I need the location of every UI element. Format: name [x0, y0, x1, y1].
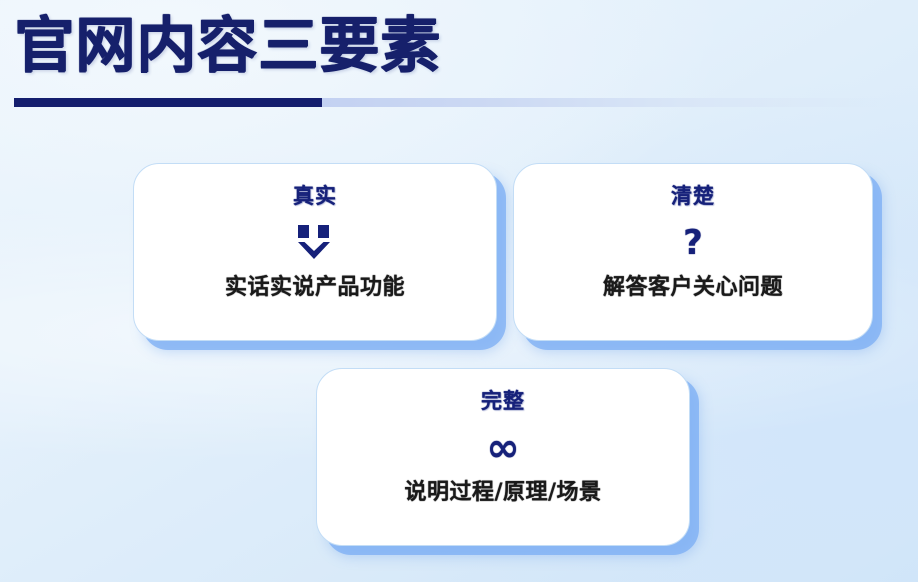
card-title: 清楚 — [671, 186, 715, 207]
card-caption: 说明过程/原理/场景 — [404, 482, 601, 504]
card-caption: 解答客户关心问题 — [603, 277, 783, 299]
content-card-authentic[interactable]: 真实 实话实说产品功能 — [133, 163, 497, 341]
card-icon-slot: ? — [683, 223, 703, 263]
smiley-eye-right-icon — [318, 225, 329, 238]
smiley-eye-left-icon — [298, 225, 309, 238]
infinity-icon: ∞ — [486, 428, 519, 468]
content-card-complete[interactable]: 完整 ∞ 说明过程/原理/场景 — [316, 368, 690, 546]
question-mark-icon: ? — [683, 226, 703, 260]
card-icon-slot — [296, 223, 334, 263]
title-rule-light-segment — [322, 98, 902, 107]
title-rule-dark-segment — [14, 98, 324, 107]
smiley-face-icon — [296, 225, 334, 261]
card-title: 真实 — [293, 186, 337, 207]
slide-canvas: 官网内容三要素 真实 实话实说产品功能 清楚 ? 解答客户关心问题 完整 — [0, 0, 918, 582]
card-title: 完整 — [481, 391, 525, 412]
title-underline-rule — [14, 98, 904, 107]
heading-block: 官网内容三要素 — [14, 16, 904, 107]
card-caption: 实话实说产品功能 — [225, 277, 405, 299]
content-card-clear[interactable]: 清楚 ? 解答客户关心问题 — [513, 163, 873, 341]
chevron-down-icon — [298, 242, 330, 260]
card-icon-slot: ∞ — [486, 428, 519, 468]
page-title: 官网内容三要素 — [14, 16, 904, 76]
